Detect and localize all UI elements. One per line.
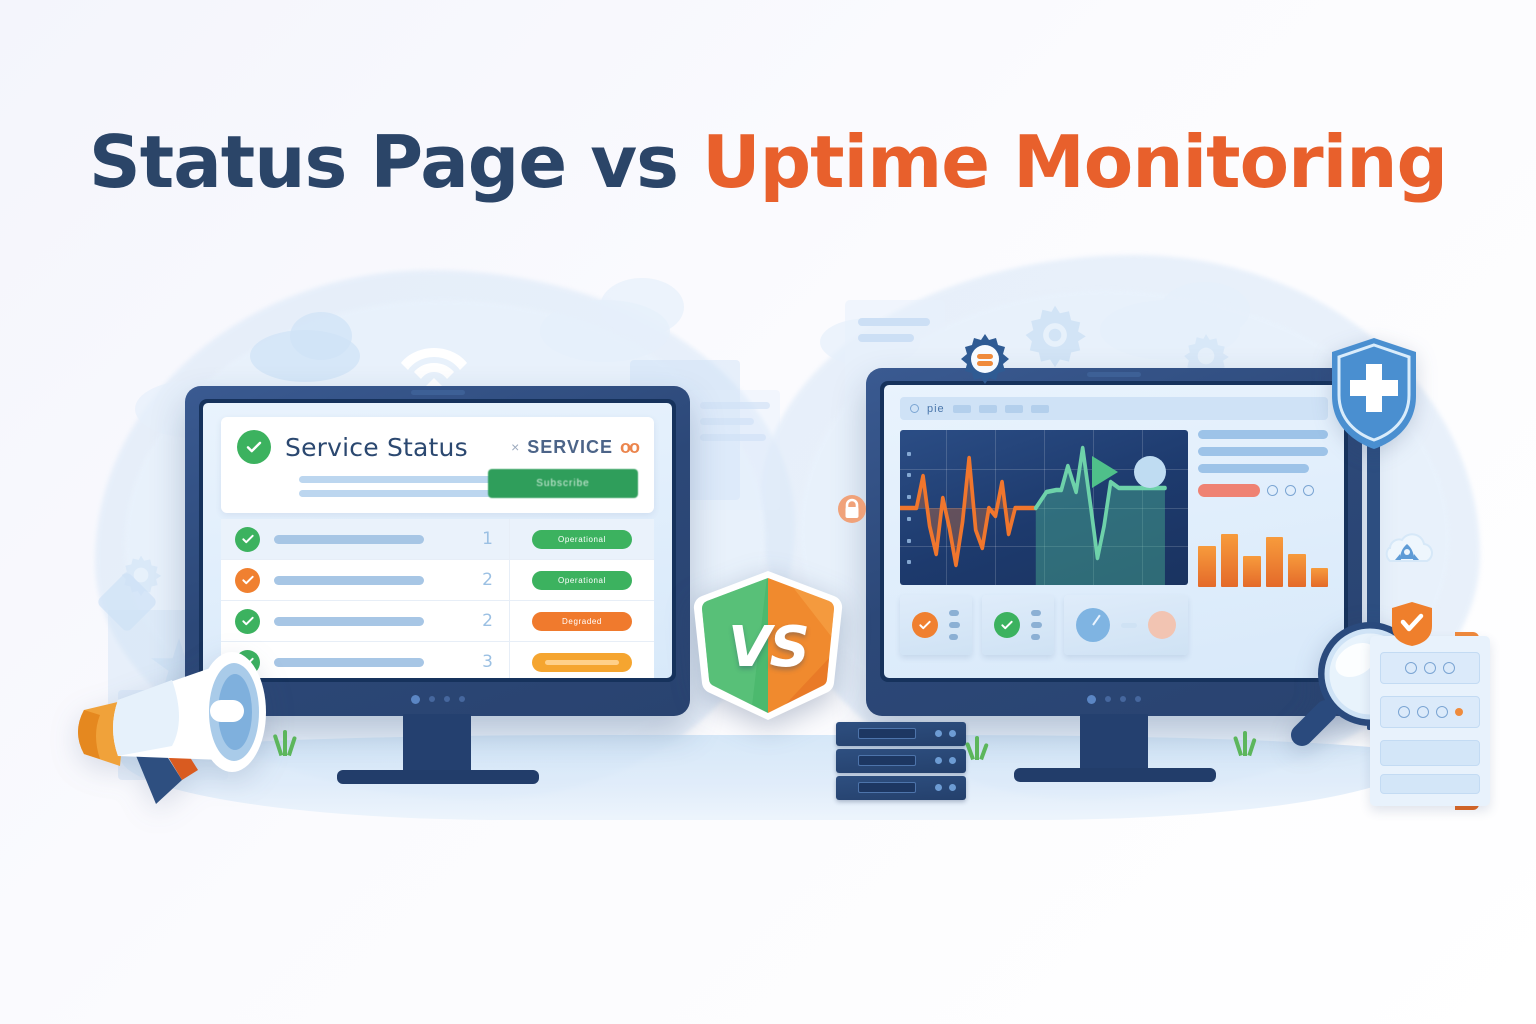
row-placeholder-bar bbox=[274, 535, 424, 544]
title-accent: Uptime Monitoring bbox=[702, 120, 1447, 204]
indicator-dot bbox=[1105, 696, 1111, 702]
cloud-rocket-icon bbox=[1374, 528, 1440, 590]
check-circle-green-icon bbox=[237, 430, 271, 464]
circle-outline-icon bbox=[1267, 485, 1278, 496]
camera-notch bbox=[411, 390, 465, 395]
gauge-icon bbox=[1076, 608, 1110, 642]
circle-outline-icon bbox=[1398, 706, 1410, 718]
placeholder-line bbox=[299, 476, 514, 483]
cloud-shape bbox=[600, 278, 684, 336]
row-status-cell: Operational bbox=[509, 519, 654, 559]
rack-slot bbox=[1380, 652, 1480, 684]
rack-slot bbox=[1380, 740, 1480, 766]
circle-outline-icon bbox=[1424, 662, 1436, 674]
megaphone-icon bbox=[62, 628, 322, 818]
url-segment bbox=[1005, 405, 1023, 413]
response-time-chart[interactable] bbox=[900, 430, 1188, 585]
gear-icon bbox=[1020, 300, 1090, 370]
url-segment bbox=[979, 405, 997, 413]
monitor-neck bbox=[403, 714, 471, 774]
vs-badge: VS bbox=[688, 568, 848, 723]
camera-notch bbox=[1087, 372, 1141, 377]
circle-outline-icon bbox=[1417, 706, 1429, 718]
circle-outline-icon bbox=[1436, 706, 1448, 718]
illustration-canvas: Status Page vs Uptime Monitoring Service… bbox=[0, 0, 1536, 1024]
shield-check-orange-icon bbox=[1388, 600, 1436, 646]
text-line-shape bbox=[700, 418, 754, 425]
server-stack-icon bbox=[836, 722, 966, 800]
check-circle-orange-icon bbox=[912, 612, 938, 638]
browser-address-bar[interactable]: pie bbox=[900, 397, 1328, 420]
card-placeholder-lines bbox=[949, 610, 960, 640]
title-primary: Status Page vs bbox=[89, 120, 678, 204]
row-status-cell: Operational bbox=[509, 560, 654, 600]
server-rack-panel bbox=[1370, 636, 1490, 806]
status-card[interactable] bbox=[900, 595, 972, 655]
status-card-row bbox=[900, 595, 1188, 655]
card-placeholder-lines bbox=[1031, 610, 1042, 640]
sidebar-line bbox=[1198, 430, 1328, 439]
text-line-shape bbox=[700, 402, 770, 409]
monitor-inner: pie bbox=[880, 381, 1348, 682]
circle-outline-icon bbox=[910, 404, 919, 413]
row-number: 1 bbox=[482, 529, 509, 549]
brand-x-mark: × bbox=[511, 439, 520, 455]
power-indicator bbox=[411, 695, 420, 704]
text-line-shape bbox=[858, 318, 930, 326]
text-line-shape bbox=[858, 334, 914, 342]
url-segment bbox=[953, 405, 971, 413]
gauge-card[interactable] bbox=[1064, 595, 1188, 655]
alert-row bbox=[1198, 484, 1328, 497]
circle-outline-icon bbox=[1303, 485, 1314, 496]
circle-outline-icon bbox=[1285, 485, 1296, 496]
rack-slot bbox=[1380, 696, 1480, 728]
row-number: 2 bbox=[482, 570, 509, 590]
text-line-shape bbox=[700, 434, 766, 441]
connector-shape bbox=[1121, 623, 1137, 628]
row-status-cell bbox=[509, 642, 654, 678]
rack-slot bbox=[1380, 774, 1480, 794]
check-circle-green-icon bbox=[235, 527, 260, 552]
page-title: Status Page vs Uptime Monitoring bbox=[0, 120, 1536, 204]
status-dot-orange bbox=[1455, 708, 1463, 716]
monitor-base bbox=[1014, 768, 1216, 782]
sidebar-line bbox=[1198, 447, 1328, 456]
check-circle-green-icon bbox=[994, 612, 1020, 638]
alert-bar bbox=[1198, 484, 1260, 497]
indicator-dot bbox=[444, 696, 450, 702]
monitor-base bbox=[337, 770, 539, 784]
chart-series-svg bbox=[900, 430, 1188, 585]
row-placeholder-bar bbox=[274, 576, 424, 585]
service-status-header-card: Service Status × SERVICE oo Subscribe bbox=[221, 417, 654, 513]
status-badge: Degraded bbox=[532, 612, 632, 631]
brand-name: SERVICE bbox=[527, 437, 613, 458]
row-number: 2 bbox=[482, 611, 509, 631]
address-text: pie bbox=[927, 403, 945, 415]
phone-icon bbox=[1148, 611, 1176, 639]
dashboard-body bbox=[900, 430, 1328, 662]
status-dot-indicator bbox=[1134, 456, 1166, 488]
status-badge bbox=[532, 653, 632, 672]
gear-icon bbox=[958, 332, 1012, 386]
dashboard-main bbox=[900, 430, 1188, 662]
row-placeholder-bar bbox=[274, 617, 424, 626]
table-row[interactable]: 1 Operational bbox=[221, 519, 654, 560]
monitor-neck bbox=[1080, 714, 1148, 772]
shield-cross-icon bbox=[1328, 336, 1420, 451]
row-number: 3 bbox=[482, 652, 509, 672]
check-circle-orange-icon bbox=[235, 568, 260, 593]
indicator-dot bbox=[429, 696, 435, 702]
brand-suffix: oo bbox=[620, 437, 638, 458]
status-badge: Operational bbox=[532, 571, 632, 590]
play-triangle-icon[interactable] bbox=[1092, 456, 1118, 488]
mini-bar-chart[interactable] bbox=[1198, 513, 1328, 587]
circle-outline-icon bbox=[1405, 662, 1417, 674]
indicator-dot bbox=[1135, 696, 1141, 702]
circle-outline-icon bbox=[1443, 662, 1455, 674]
cloud-shape bbox=[290, 312, 352, 360]
sidebar-line bbox=[1198, 464, 1309, 473]
placeholder-line bbox=[299, 490, 514, 497]
status-badge: Operational bbox=[532, 530, 632, 549]
indicator-dot bbox=[459, 696, 465, 702]
table-row[interactable]: 2 Operational bbox=[221, 560, 654, 601]
indicator-dot bbox=[1120, 696, 1126, 702]
uptime-monitoring-screen[interactable]: pie bbox=[884, 385, 1344, 678]
row-status-cell: Degraded bbox=[509, 601, 654, 641]
lock-icon bbox=[838, 494, 866, 524]
power-indicator bbox=[1087, 695, 1096, 704]
url-segment bbox=[1031, 405, 1049, 413]
subscribe-button[interactable]: Subscribe bbox=[488, 469, 638, 498]
status-card[interactable] bbox=[982, 595, 1054, 655]
brand-logo: × SERVICE oo bbox=[511, 437, 638, 458]
wifi-icon bbox=[400, 338, 468, 390]
service-status-title: Service Status bbox=[285, 433, 468, 462]
vs-label: VS bbox=[688, 568, 848, 723]
